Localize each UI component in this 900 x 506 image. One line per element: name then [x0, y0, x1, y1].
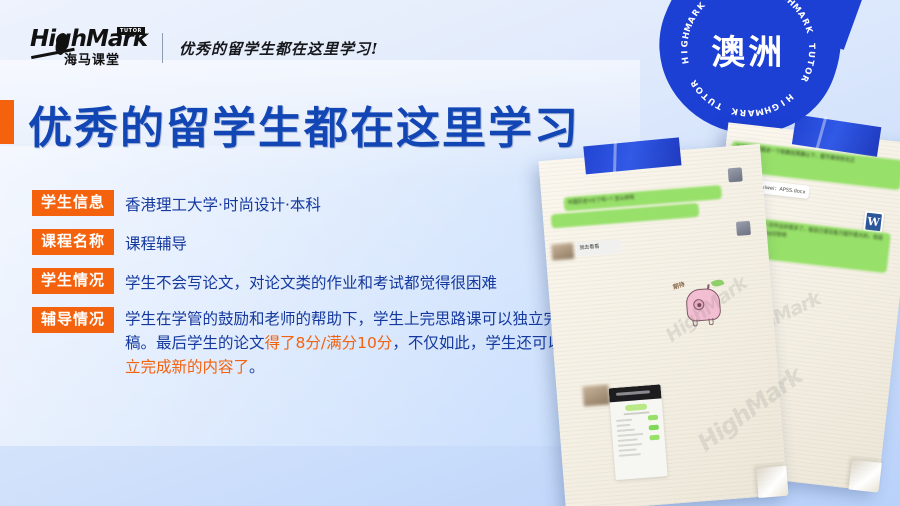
mini-chat-line [618, 448, 636, 451]
row-value-student-situation: 学生不会写论文，对论文类的作业和考试都觉得很困难 [125, 268, 497, 295]
mini-chat-line [618, 443, 642, 447]
word-doc-letter: W [865, 213, 882, 232]
mini-chat-pill [625, 403, 647, 411]
mascot-leaf-icon [711, 278, 725, 289]
row-tag-course-name: 课程名称 [32, 229, 114, 255]
logo-chinese-name: 海马课堂 [64, 49, 120, 68]
left-avatar-top [728, 167, 743, 182]
left-avatar-right [736, 221, 751, 236]
mini-chat-line [616, 419, 632, 422]
paper-curl-right [849, 460, 882, 493]
page-title: 优秀的留学生都在这里学习 [28, 92, 580, 156]
left-avatar-mid [551, 243, 574, 261]
paper-left: 中国历史থ分了吗~? 怎么样呀 我去看看 期待 [539, 144, 788, 506]
info-row-student: 学生信息 香港理工大学·时尚设计·本科 [32, 190, 592, 217]
mini-chat-header [609, 384, 662, 402]
mini-chat-tag-3 [649, 435, 659, 441]
row-tag-student-info: 学生信息 [32, 190, 114, 216]
mini-chat-line [616, 424, 630, 427]
mini-chat-line [619, 453, 641, 457]
paper-curl-left [756, 466, 788, 498]
mascot-legs [691, 318, 718, 328]
plain-text: 。 [249, 358, 265, 376]
mini-chat-line [617, 429, 635, 432]
mascot-sticker: 期待 [678, 275, 728, 330]
left-bubble-grey: 我去看看 [575, 239, 622, 257]
row-value-course-name: 课程辅导 [125, 229, 187, 256]
logo-tutor-badge: TUTOR [117, 27, 145, 35]
chat-screenshot-papers: 辛苦老师再跟进一下和教授再确认下，跟节奏快些在正 学姐学姐ruiwei：APSS… [540, 130, 900, 506]
highlighted-text: 得了8分/满分10分 [265, 334, 393, 352]
row-tag-tutoring-result: 辅导情况 [32, 307, 114, 333]
plain-text: ，不仅如此，学生还可以 [392, 334, 563, 352]
mini-chat-subtext [624, 411, 650, 415]
mini-chat-tag-2 [649, 425, 659, 431]
info-row-tutoring: 辅导情况 学生在学管的鼓励和老师的帮助下，学生上完思路课可以独立完成初稿。最后学… [32, 307, 592, 379]
row-value-tutoring-result: 学生在学管的鼓励和老师的帮助下，学生上完思路课可以独立完成初稿。最后学生的论文得… [125, 307, 592, 379]
title-accent-bar [0, 100, 14, 144]
info-row-course: 课程名称 课程辅导 [32, 229, 592, 256]
row-tag-student-situation: 学生情况 [32, 268, 114, 294]
brand-header: HighMark TUTOR 海马课堂 优秀的留学生都在这里学习! [30, 26, 379, 70]
badge-region-label: 澳洲 [680, 0, 816, 117]
promo-banner: HighMark TUTOR 海马课堂 优秀的留学生都在这里学习! HIGHMA… [0, 0, 900, 506]
mini-chat-line [618, 438, 638, 442]
left-avatar-bottom [582, 384, 609, 406]
row-value-student-info: 香港理工大学·时尚设计·本科 [125, 190, 321, 217]
brand-tagline: 优秀的留学生都在这里学习! [179, 38, 379, 59]
mini-chat-screenshot [609, 384, 668, 480]
info-rows: 学生信息 香港理工大学·时尚设计·本科 课程名称 课程辅导 学生情况 学生不会写… [32, 190, 592, 379]
highmark-logo[interactable]: HighMark TUTOR 海马课堂 [30, 27, 146, 69]
info-row-situation: 学生情况 学生不会写论文，对论文类的作业和考试都觉得很困难 [32, 268, 592, 295]
header-divider [162, 33, 163, 63]
mini-chat-line [617, 433, 643, 437]
mascot-label: 期待 [672, 279, 686, 291]
mini-chat-tag-1 [648, 415, 658, 421]
tape-left [583, 137, 681, 174]
